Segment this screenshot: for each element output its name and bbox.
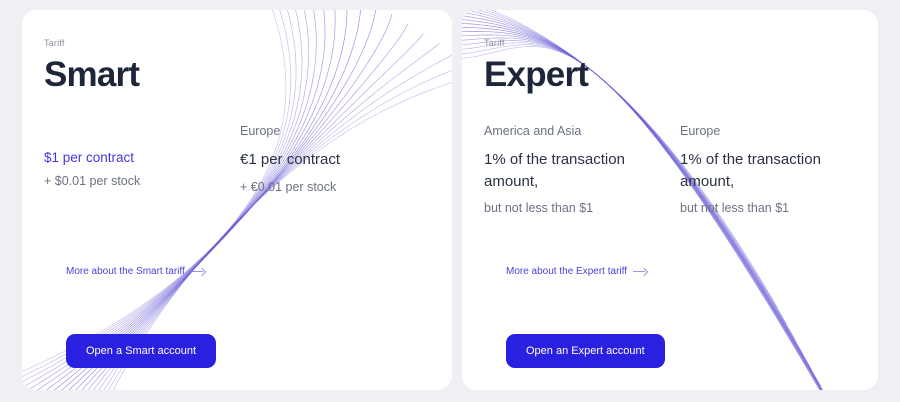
arrow-right-icon [633, 267, 647, 276]
price-columns: America and Asia 1% of the transaction a… [484, 123, 878, 218]
price-column: Europe 1% of the transaction amount, but… [680, 123, 876, 218]
price-main: 1% of the transaction amount, [484, 149, 680, 193]
open-account-button-expert[interactable]: Open an Expert account [506, 334, 665, 368]
price-main: €1 per contract [240, 149, 436, 171]
price-main: $1 per contract [44, 149, 240, 168]
more-link-label: More about the Smart tariff [66, 266, 185, 277]
more-about-tariff-link-expert[interactable]: More about the Expert tariff [506, 266, 647, 277]
price-sub: + $0.01 per stock [44, 173, 240, 191]
price-column: Europe €1 per contract + €0.01 per stock [240, 123, 436, 197]
tariff-card-expert: Tariff Expert America and Asia 1% of the… [462, 10, 878, 390]
pricing-page: Tariff Smart $1 per contract + $0.01 per… [0, 0, 900, 402]
page-title: Smart [44, 57, 452, 94]
region-label: Europe [240, 123, 436, 139]
more-link-label: More about the Expert tariff [506, 266, 627, 277]
eyebrow-label: Tariff [484, 38, 878, 49]
price-column: $1 per contract + $0.01 per stock [44, 123, 240, 197]
price-sub: but not less than $1 [484, 200, 680, 218]
price-main: 1% of the transaction amount, [680, 149, 876, 193]
arrow-right-icon [191, 267, 205, 276]
price-column: America and Asia 1% of the transaction a… [484, 123, 680, 218]
price-columns: $1 per contract + $0.01 per stock Europe… [44, 123, 452, 197]
more-about-tariff-link-smart[interactable]: More about the Smart tariff [66, 266, 205, 277]
region-label: Europe [680, 123, 876, 139]
eyebrow-label: Tariff [44, 38, 452, 49]
price-sub: + €0.01 per stock [240, 179, 436, 197]
open-account-button-smart[interactable]: Open a Smart account [66, 334, 216, 368]
tariff-card-smart: Tariff Smart $1 per contract + $0.01 per… [22, 10, 452, 390]
region-label: America and Asia [484, 123, 680, 139]
price-sub: but not less than $1 [680, 200, 876, 218]
card-content-smart: Tariff Smart $1 per contract + $0.01 per… [22, 10, 452, 390]
card-content-expert: Tariff Expert America and Asia 1% of the… [462, 10, 878, 390]
page-title: Expert [484, 57, 878, 94]
